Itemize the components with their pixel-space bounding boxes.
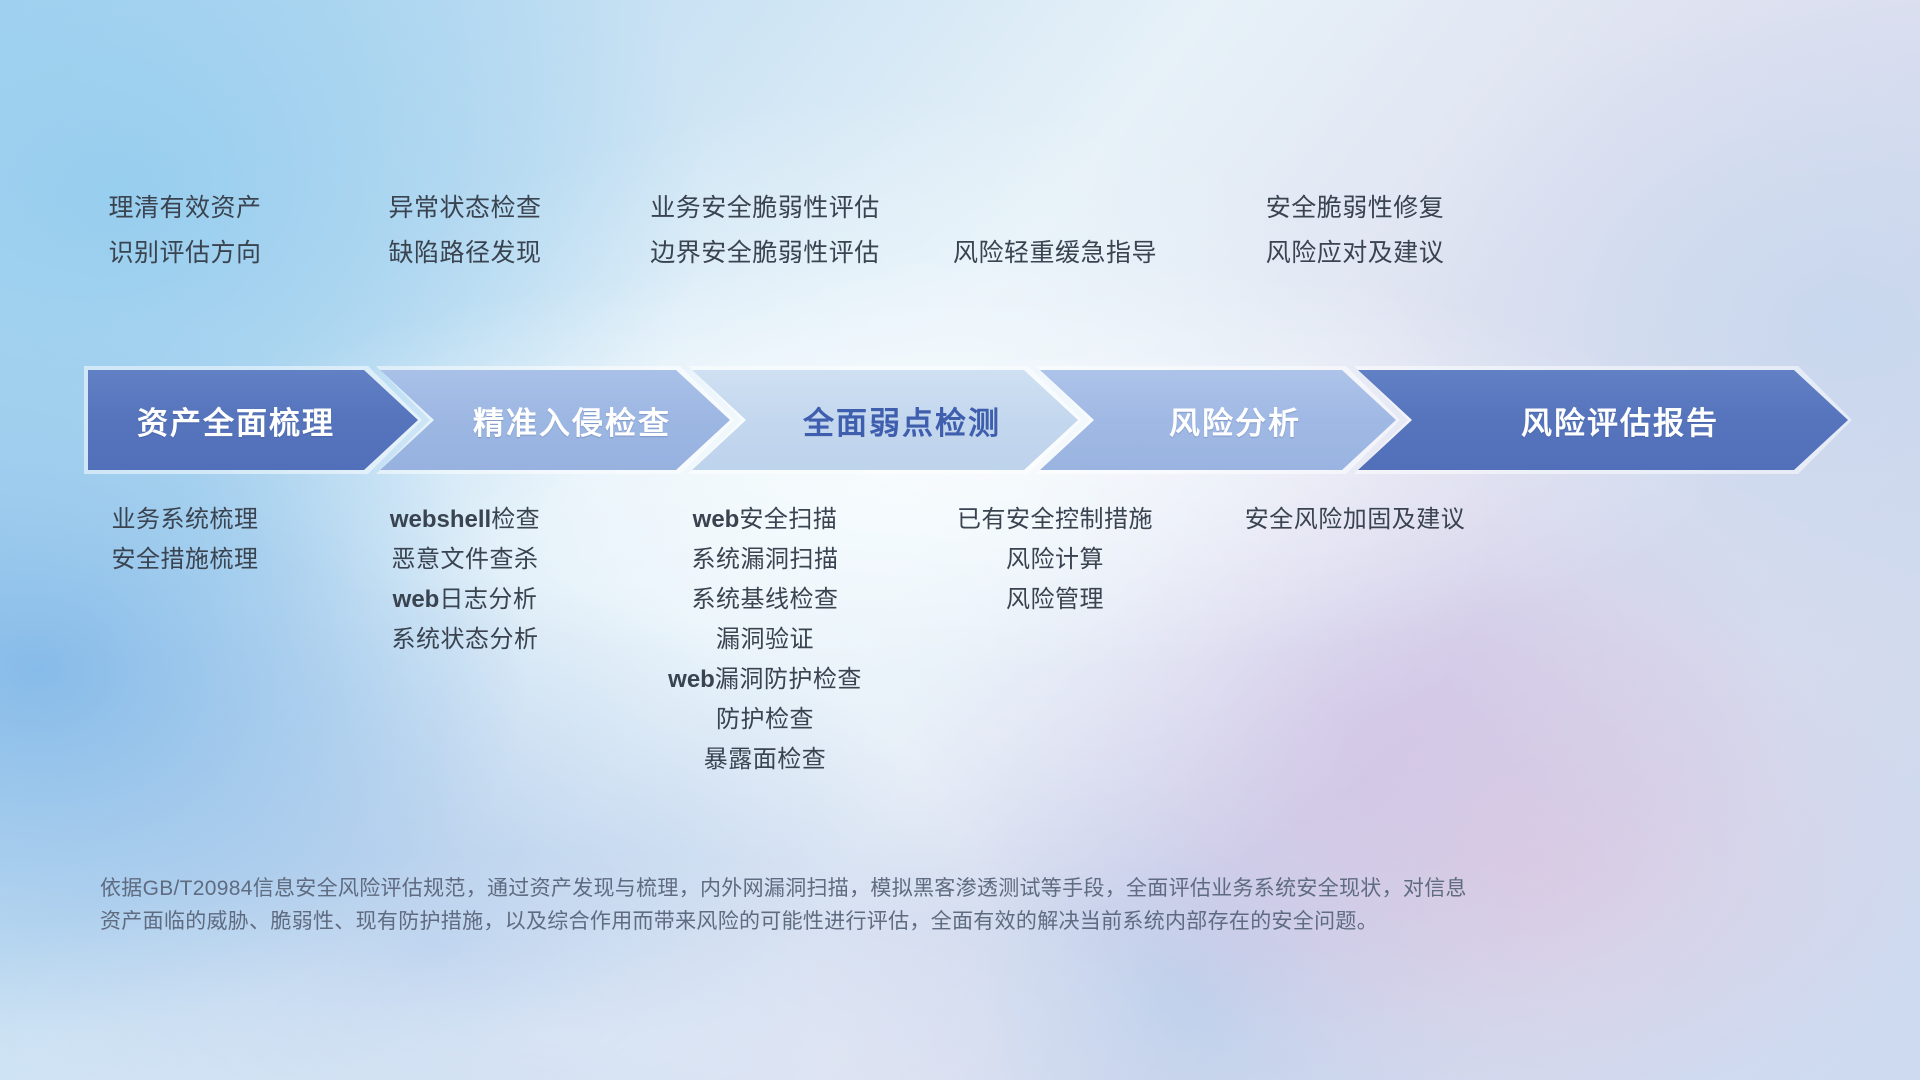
top-caption-item: 风险轻重缓急指导 xyxy=(953,231,1157,276)
top-caption-item: 安全脆弱性修复 xyxy=(1266,186,1445,231)
footer-description: 依据GB/T20984信息安全风险评估规范，通过资产发现与梳理，内外网漏洞扫描，… xyxy=(100,872,1720,938)
process-step-2[interactable]: 精准入侵检查 xyxy=(380,370,730,470)
latin-token: web xyxy=(668,666,715,693)
bottom-caption-item: 漏洞验证 xyxy=(716,620,814,660)
process-step-1[interactable]: 资产全面梳理 xyxy=(88,370,418,470)
bottom-caption-col-3: web安全扫描系统漏洞扫描系统基线检查漏洞验证web漏洞防护检查防护检查暴露面检… xyxy=(595,500,935,780)
bottom-caption-item: 恶意文件查杀 xyxy=(392,540,539,580)
process-step-label: 风险评估报告 xyxy=(1521,398,1719,443)
process-step-label: 精准入侵检查 xyxy=(473,398,671,443)
top-caption-col-1: 理清有效资产识别评估方向 xyxy=(20,186,350,276)
process-diagram: 理清有效资产识别评估方向异常状态检查缺陷路径发现业务安全脆弱性评估边界安全脆弱性… xyxy=(0,0,1920,1080)
bottom-caption-item: 风险计算 xyxy=(1006,540,1104,580)
top-caption-col-2: 异常状态检查缺陷路径发现 xyxy=(315,186,615,276)
process-step-4[interactable]: 风险分析 xyxy=(1040,370,1396,470)
top-caption-item: 理清有效资产 xyxy=(108,186,261,231)
top-caption-item: 业务安全脆弱性评估 xyxy=(650,186,880,231)
bottom-caption-item: 防护检查 xyxy=(716,700,814,740)
bottom-caption-item: 已有安全控制措施 xyxy=(957,500,1153,540)
top-caption-col-3: 业务安全脆弱性评估边界安全脆弱性评估 xyxy=(595,186,935,276)
bottom-caption-item: web日志分析 xyxy=(393,580,538,620)
bottom-caption-item: web漏洞防护检查 xyxy=(668,660,862,700)
top-caption-item: 缺陷路径发现 xyxy=(388,231,541,276)
process-step-label: 全面弱点检测 xyxy=(803,398,1001,443)
bottom-caption-item: 暴露面检查 xyxy=(704,740,827,780)
process-step-3[interactable]: 全面弱点检测 xyxy=(692,370,1078,470)
bottom-caption-item: 风险管理 xyxy=(1006,580,1104,620)
bottom-caption-item: 系统漏洞扫描 xyxy=(692,540,839,580)
process-step-5[interactable]: 风险评估报告 xyxy=(1358,370,1848,470)
footer-line-2: 资产面临的威胁、脆弱性、现有防护措施，以及综合作用而带来风险的可能性进行评估，全… xyxy=(100,905,1720,938)
process-arrow-banner: 资产全面梳理精准入侵检查全面弱点检测风险分析风险评估报告 xyxy=(88,370,1848,470)
bottom-caption-item: web安全扫描 xyxy=(693,500,838,540)
latin-token: webshell xyxy=(390,506,491,533)
bottom-caption-item: 业务系统梳理 xyxy=(112,500,259,540)
bottom-caption-col-4: 已有安全控制措施风险计算风险管理 xyxy=(905,500,1205,620)
top-caption-col-5: 安全脆弱性修复风险应对及建议 xyxy=(1175,186,1535,276)
bottom-caption-item: 安全措施梳理 xyxy=(112,540,259,580)
latin-token: web xyxy=(393,586,440,613)
process-step-label: 资产全面梳理 xyxy=(137,398,335,443)
bottom-caption-col-2: webshell检查恶意文件查杀web日志分析系统状态分析 xyxy=(315,500,615,660)
bottom-caption-col-5: 安全风险加固及建议 xyxy=(1175,500,1535,540)
footer-line-1: 依据GB/T20984信息安全风险评估规范，通过资产发现与梳理，内外网漏洞扫描，… xyxy=(100,872,1720,905)
process-step-label: 风险分析 xyxy=(1169,398,1301,443)
top-caption-item: 异常状态检查 xyxy=(388,186,541,231)
bottom-caption-item: 安全风险加固及建议 xyxy=(1245,500,1466,540)
bottom-caption-item: 系统基线检查 xyxy=(692,580,839,620)
top-caption-item: 边界安全脆弱性评估 xyxy=(650,231,880,276)
bottom-caption-item: 系统状态分析 xyxy=(392,620,539,660)
latin-token: web xyxy=(693,506,740,533)
bottom-caption-col-1: 业务系统梳理安全措施梳理 xyxy=(20,500,350,580)
top-caption-item: 识别评估方向 xyxy=(108,231,261,276)
top-caption-col-4: 风险轻重缓急指导 xyxy=(905,231,1205,276)
top-caption-item: 风险应对及建议 xyxy=(1266,231,1445,276)
bottom-caption-item: webshell检查 xyxy=(390,500,540,540)
